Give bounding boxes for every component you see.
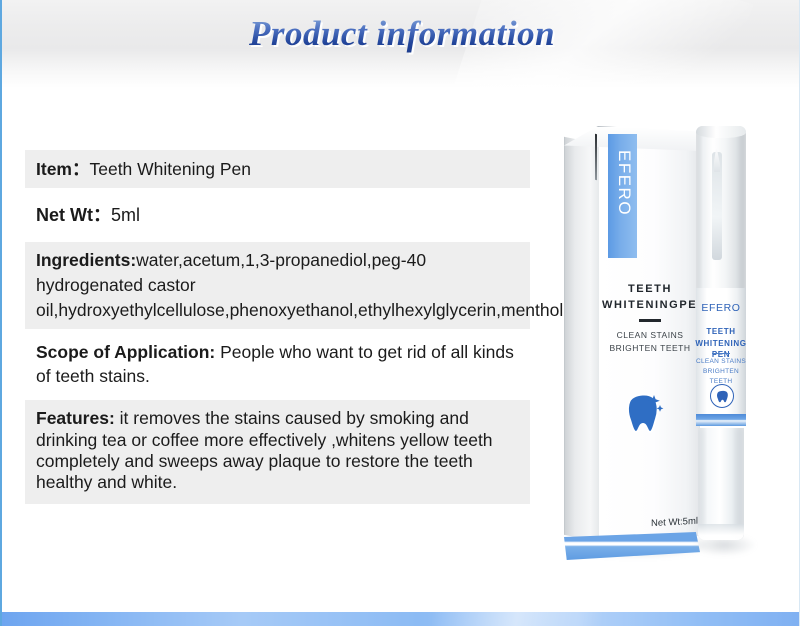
pen-divider-rule bbox=[712, 353, 730, 354]
box-divider-rule bbox=[639, 319, 661, 322]
info-label-item: Item： bbox=[36, 157, 89, 182]
page-title: Product information bbox=[2, 14, 800, 54]
info-row-ingredients: Ingredients:water,acetum,1,3-propanediol… bbox=[25, 242, 530, 329]
spacer bbox=[25, 188, 530, 195]
product-image-area: EFERO TEETH WHITENINGPEN CLEAN STAINS BR… bbox=[542, 100, 800, 580]
info-row-scope: Scope of Application: People who want to… bbox=[25, 334, 530, 396]
product-pen: EFERO TEETH WHITENING PEN CLEAN STAINS B… bbox=[690, 126, 752, 566]
pen-blue-stripe bbox=[696, 414, 746, 426]
box-title-line1: TEETH bbox=[628, 283, 672, 295]
tooth-icon bbox=[624, 392, 664, 434]
info-label-net-wt: Net Wt： bbox=[36, 203, 111, 229]
pen-barrel-end bbox=[698, 524, 744, 540]
box-brand-text: EFERO bbox=[614, 150, 634, 202]
box-side-panel bbox=[564, 137, 601, 542]
bottom-accent-bar bbox=[2, 612, 800, 626]
info-row-item: Item：Teeth Whitening Pen bbox=[25, 150, 530, 188]
pen-tooth-badge-icon bbox=[710, 384, 734, 408]
pen-title-line1: TEETH bbox=[706, 327, 735, 336]
box-subtitle: CLEAN STAINS BRIGHTEN TEETH bbox=[602, 329, 698, 355]
pen-subtitle: CLEAN STAINS BRIGHTEN TEETH bbox=[692, 357, 750, 386]
pen-sub-line1: CLEAN STAINS bbox=[696, 358, 746, 365]
box-sub-line2: BRIGHTEN TEETH bbox=[610, 343, 691, 353]
pen-cap-top bbox=[696, 126, 746, 138]
info-row-net-wt: Net Wt：5ml bbox=[25, 195, 530, 237]
product-info-list: Item：Teeth Whitening Pen Net Wt：5ml Ingr… bbox=[25, 150, 530, 504]
product-box: EFERO TEETH WHITENINGPEN CLEAN STAINS BR… bbox=[562, 114, 702, 554]
pen-brand-text: EFERO bbox=[696, 302, 746, 314]
page-header: Product information bbox=[2, 0, 800, 88]
bottom-bar-sheen bbox=[432, 612, 602, 626]
info-label-scope: Scope of Application: bbox=[36, 342, 215, 362]
box-product-title: TEETH WHITENINGPEN bbox=[602, 282, 698, 314]
box-edge-highlight bbox=[595, 134, 597, 180]
box-sub-line1: CLEAN STAINS bbox=[617, 330, 684, 340]
info-label-ingredients: Ingredients: bbox=[36, 250, 136, 270]
pen-product-title: TEETH WHITENING PEN bbox=[692, 326, 750, 361]
info-row-features: Features: it removes the stains caused b… bbox=[25, 400, 530, 503]
info-value-net-wt: 5ml bbox=[111, 203, 140, 229]
pen-sub-line2: BRIGHTEN TEETH bbox=[703, 368, 739, 385]
info-label-features: Features: bbox=[36, 408, 115, 428]
product-information-page: Product information Item：Teeth Whitening… bbox=[0, 0, 800, 626]
info-value-item: Teeth Whitening Pen bbox=[89, 157, 251, 182]
